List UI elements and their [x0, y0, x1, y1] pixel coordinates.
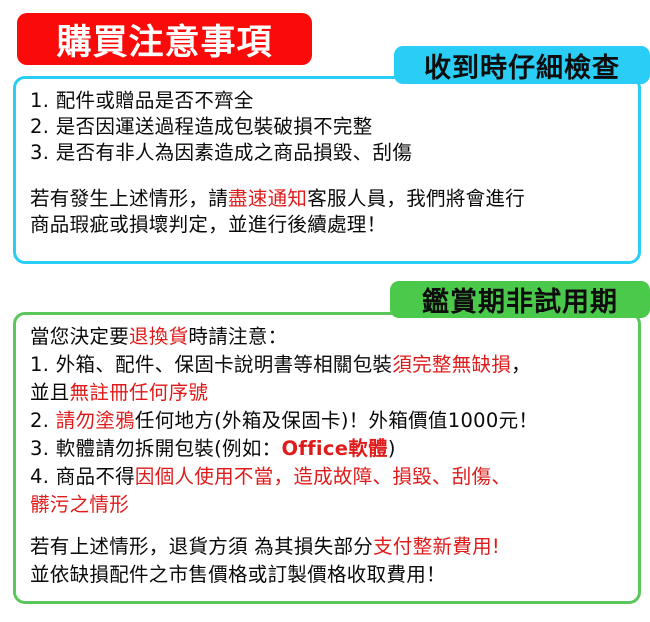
spacer — [30, 166, 624, 186]
list-item-number: 3. — [30, 141, 49, 164]
list-item-continuation-highlight: 髒污之情形 — [30, 493, 129, 516]
list-item-number: 2. — [30, 115, 49, 138]
return-intro: 當您決定要退換貨時請注意： — [30, 323, 624, 351]
list-item-text: 是否有非人為因素造成之商品損毀、刮傷 — [56, 141, 412, 164]
list-item: 2. 是否因運送過程造成包裝破損不完整 — [30, 114, 624, 140]
return-policy-body: 當您決定要退換貨時請注意： 1. 外箱、配件、保固卡說明書等相關包裝須完整無缺損… — [16, 315, 638, 589]
return-policy-box: 當您決定要退換貨時請注意： 1. 外箱、配件、保固卡說明書等相關包裝須完整無缺損… — [13, 312, 641, 604]
note-line-2: 商品瑕疵或損壞判定，並進行後續處理！ — [30, 212, 624, 238]
list-item-highlight: 請勿塗鴉 — [56, 409, 135, 432]
purchase-notice-title-badge: 購買注意事項 — [17, 13, 312, 65]
list-item-punct: ) — [388, 437, 396, 460]
list-item-number: 1. — [30, 353, 49, 376]
note-text-highlight: 盡速通知 — [228, 187, 307, 210]
list-item: 3. 是否有非人為因素造成之商品損毀、刮傷 — [30, 140, 624, 166]
list-item-text: 配件或贈品是否不齊全 — [56, 89, 254, 112]
list-item-text: 任何地方(外箱及保固卡)！外箱價值1000元！ — [135, 409, 538, 432]
list-item-text: 軟體請勿拆開包裝(例如： — [56, 437, 282, 460]
list-item: 1. 外箱、配件、保固卡說明書等相關包裝須完整無缺損， 並且無註冊任何序號 — [30, 351, 624, 407]
list-item-text: 是否因運送過程造成包裝破損不完整 — [56, 115, 373, 138]
return-intro-trailing: 時請注意： — [188, 325, 287, 348]
list-item-highlight: 須完整無缺損 — [392, 353, 511, 376]
return-footer-line-2: 並依缺損配件之市售價格或訂製價格收取費用！ — [30, 561, 624, 589]
list-item: 4. 商品不得因個人使用不當，造成故障、損毀、刮傷、 髒污之情形 — [30, 463, 624, 519]
list-item: 2. 請勿塗鴉任何地方(外箱及保固卡)！外箱價值1000元！ — [30, 407, 624, 435]
list-item: 1. 配件或贈品是否不齊全 — [30, 88, 624, 114]
notice-page: 購買注意事項 收到時仔細檢查 1. 配件或贈品是否不齊全 2. 是否因運送過程造… — [0, 0, 650, 622]
appreciation-period-badge: 鑑賞期非試用期 — [390, 281, 650, 318]
inspect-on-receipt-badge: 收到時仔細檢查 — [394, 46, 650, 84]
return-footer-line-1: 若有上述情形，退貨方須 為其損失部分支付整新費用! — [30, 533, 624, 561]
list-item-text: 商品不得 — [56, 465, 135, 488]
return-intro-leading: 當您決定要 — [30, 325, 129, 348]
return-footer-leading: 若有上述情形，退貨方須 為其損失部分 — [30, 535, 373, 558]
list-item-number: 2. — [30, 409, 49, 432]
list-item: 3. 軟體請勿拆開包裝(例如：Office軟體) — [30, 435, 624, 463]
list-item-continuation-highlight: 無註冊任何序號 — [70, 381, 209, 404]
list-item-punct: ， — [511, 353, 531, 376]
list-item-highlight: 因個人使用不當，造成故障、損毀、刮傷、 — [135, 465, 511, 488]
list-item-number: 3. — [30, 437, 49, 460]
return-intro-highlight: 退換貨 — [129, 325, 188, 348]
list-item-continuation: 並且 — [30, 381, 70, 404]
return-footer-highlight: 支付整新費用! — [373, 535, 500, 558]
list-item-text: 外箱、配件、保固卡說明書等相關包裝 — [56, 353, 393, 376]
inspect-on-receipt-box: 1. 配件或贈品是否不齊全 2. 是否因運送過程造成包裝破損不完整 3. 是否有… — [13, 76, 641, 264]
note-text-trailing: 客服人員，我們將會進行 — [307, 187, 525, 210]
list-item-number: 4. — [30, 465, 49, 488]
inspect-on-receipt-body: 1. 配件或贈品是否不齊全 2. 是否因運送過程造成包裝破損不完整 3. 是否有… — [16, 79, 638, 238]
list-item-highlight: Office軟體 — [281, 437, 387, 460]
note-text-leading: 若有發生上述情形，請 — [30, 187, 228, 210]
list-item-number: 1. — [30, 89, 49, 112]
spacer — [30, 519, 624, 533]
note-line-1: 若有發生上述情形，請盡速通知客服人員，我們將會進行 — [30, 186, 624, 212]
